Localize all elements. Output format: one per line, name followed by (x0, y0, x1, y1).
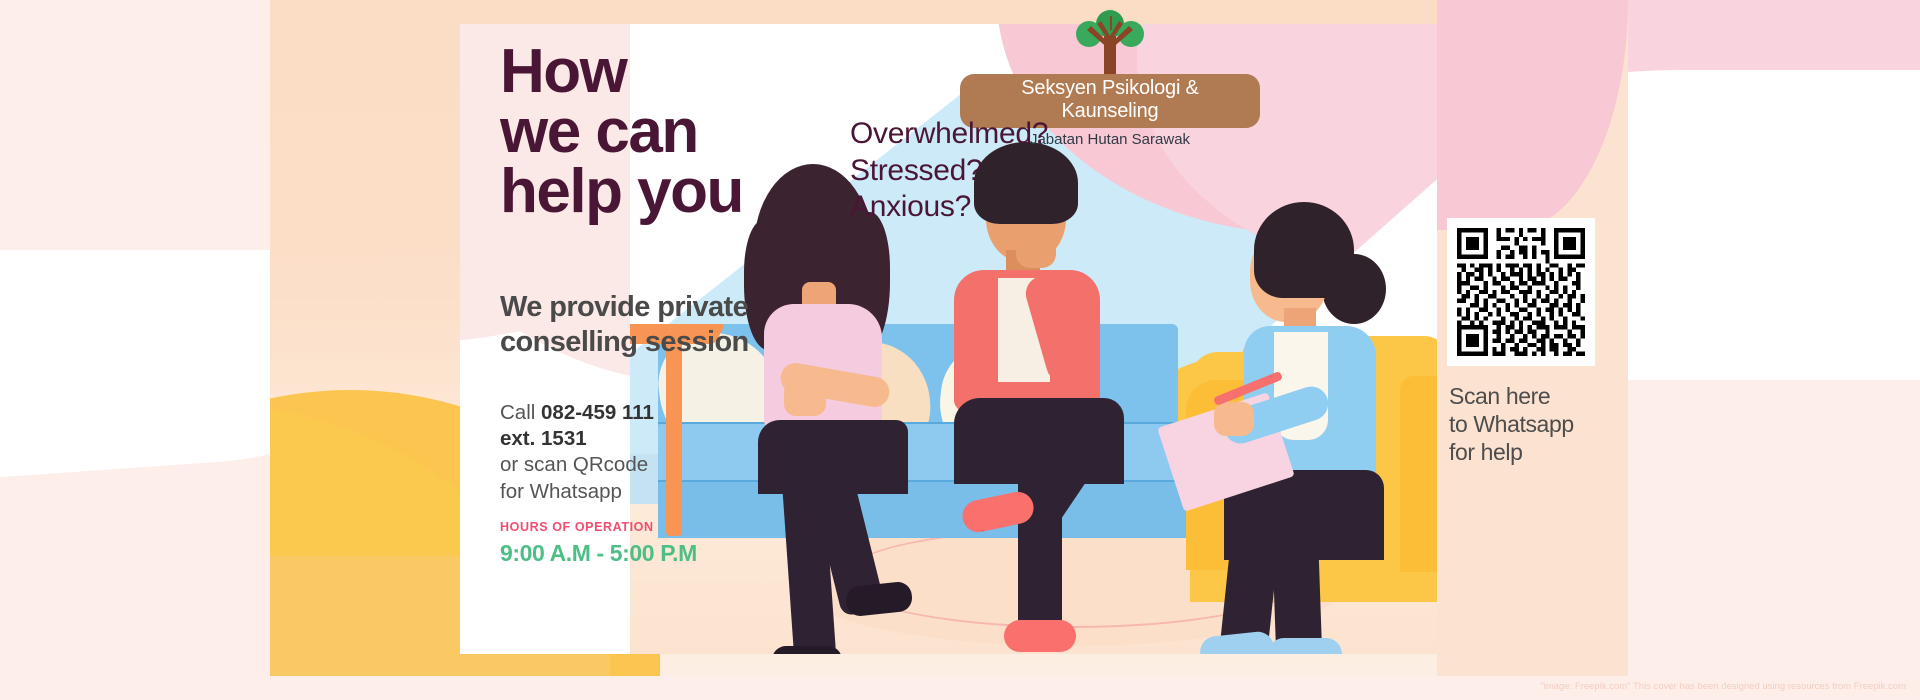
qr-column: Scan here to Whatsapp for help (1437, 0, 1628, 676)
contact-block: Call 082-459 111 ext. 1531 or scan QRcod… (500, 400, 800, 505)
subheadline-line-1: We provide private (500, 290, 820, 325)
question-line-1: Overwhelmed? (850, 116, 1110, 153)
qr-caption-line-3: for help (1449, 438, 1624, 466)
qr-caption-line-1: Scan here (1449, 382, 1624, 410)
qr-code[interactable] (1447, 218, 1595, 366)
hours-block: HOURS OF OPERATION 9:00 A.M - 5:00 P.M (500, 520, 800, 567)
contact-ext: ext. 1531 (500, 426, 800, 452)
hours-value: 9:00 A.M - 5:00 P.M (500, 540, 800, 567)
question-line-2: Stressed? (850, 153, 1110, 190)
page-title: How we can help you (500, 42, 830, 222)
image-credit: "image: Freepik.com" This cover has been… (1540, 681, 1906, 692)
call-prefix: Call (500, 401, 541, 424)
headline-line-1: How (500, 42, 830, 102)
subheadline: We provide private conselling session (500, 290, 820, 361)
left-text-column: How we can help you We provide private c… (500, 0, 830, 676)
tree-icon (960, 8, 1260, 74)
headline-line-2: we can (500, 102, 830, 162)
poster-card: Overwhelmed? Stressed? Anxious? Seksyen … (270, 0, 1628, 676)
subheadline-line-2: conselling session (500, 325, 820, 360)
hours-label: HOURS OF OPERATION (500, 520, 800, 534)
contact-line-4: for Whatsapp (500, 479, 800, 505)
qr-caption-line-2: to Whatsapp (1449, 410, 1624, 438)
contact-line-3: or scan QRcode (500, 452, 800, 478)
question-line-3: Anxious? (850, 189, 1110, 226)
contact-call-line: Call 082-459 111 (500, 400, 800, 426)
phone-number[interactable]: 082-459 111 (541, 401, 654, 424)
headline-line-3: help you (500, 162, 830, 222)
person-counselor (1230, 202, 1437, 632)
qr-caption: Scan here to Whatsapp for help (1449, 382, 1624, 466)
questions-block: Overwhelmed? Stressed? Anxious? (850, 116, 1110, 226)
